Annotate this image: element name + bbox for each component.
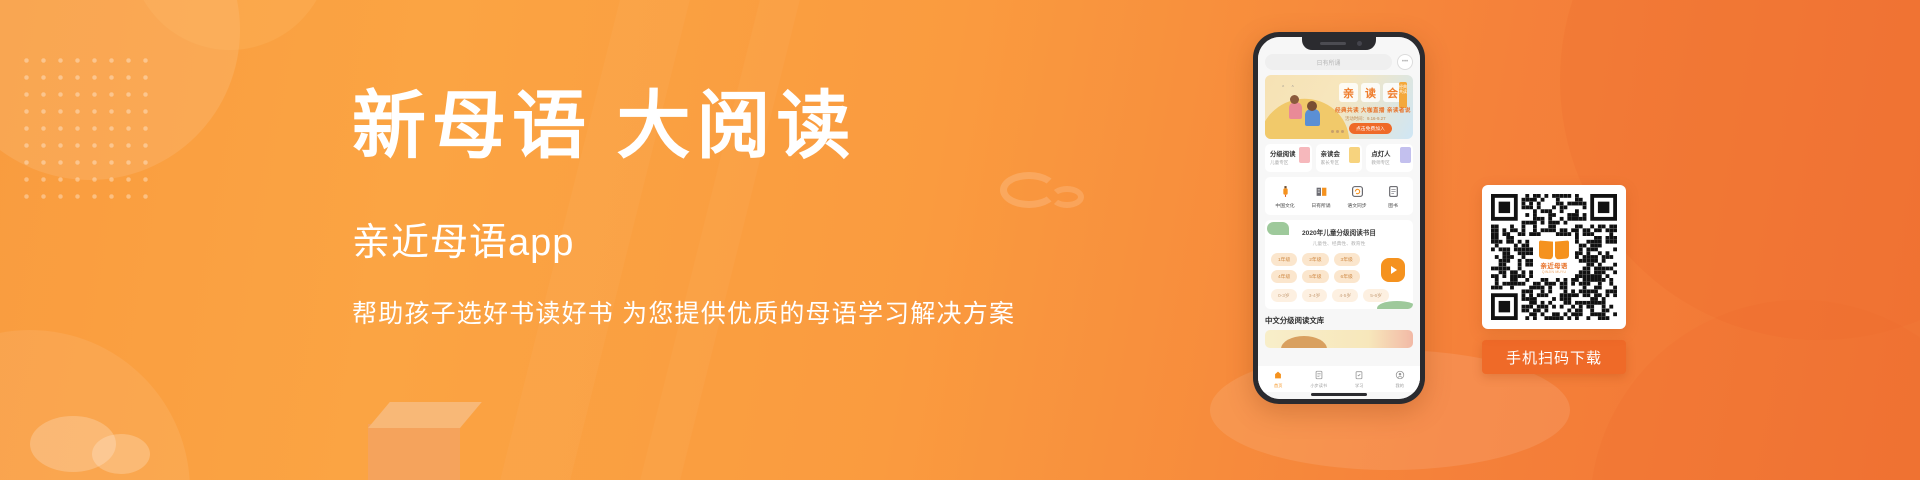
tab-profile[interactable]: 我的 <box>1380 370 1421 389</box>
decor-dot-grid <box>18 52 154 202</box>
carousel-subtitle: 经典共读 大咖直播 亲读者说 <box>1335 106 1411 114</box>
qr-code: 亲近母语 QINJIN MUYU <box>1491 194 1617 320</box>
booklist-age-chips: 0-3岁 3-4岁 4-5岁 5-6岁 <box>1271 289 1407 302</box>
sync-icon <box>1350 184 1364 198</box>
grade-chip[interactable]: 5年级 <box>1302 270 1328 283</box>
category-card-teacher[interactable]: 点灯人 教师专区 <box>1366 144 1413 172</box>
quick-link-row: 中国文化 日有所诵 语文同步 <box>1265 177 1413 215</box>
ellipsis-icon[interactable]: ••• <box>1397 54 1413 70</box>
phone-mockup: 日有所诵 ••• ⌃ ⌃ 亲 读 会 经典共读 经典共读 <box>1253 32 1425 404</box>
grade-chip[interactable]: 6年级 <box>1334 270 1360 283</box>
download-button[interactable]: 手机扫码下载 <box>1482 340 1626 374</box>
decor-circle-bottom-left <box>0 330 190 480</box>
app-name: 亲近母语app <box>352 211 1012 266</box>
app-home-screen: 日有所诵 ••• ⌃ ⌃ 亲 读 会 经典共读 经典共读 <box>1258 37 1420 399</box>
home-indicator <box>1311 393 1367 396</box>
banner-description: 帮助孩子选好书读好书 为您提供优质的母语学习解决方案 <box>352 294 1012 330</box>
bottom-tab-bar: 首页 小步读书 学习 <box>1258 366 1420 392</box>
age-chip[interactable]: 5-6岁 <box>1363 289 1389 302</box>
decor-arc <box>1281 336 1327 348</box>
user-icon <box>1394 370 1405 381</box>
decor-cloud-b <box>92 434 150 474</box>
decor-child-1 <box>1289 102 1302 119</box>
lantern-icon <box>1278 184 1292 198</box>
quick-link-label: 语文同步 <box>1347 202 1366 209</box>
bookmark-icon <box>1349 147 1360 163</box>
tab-label: 小步读书 <box>1310 383 1327 389</box>
brand-pinyin: QINJIN MUYU <box>1542 270 1566 274</box>
category-card-parent-club[interactable]: 亲读会 家长专区 <box>1316 144 1363 172</box>
brand-logo: 亲近母语 QINJIN MUYU <box>1534 237 1574 277</box>
carousel-title: 亲 读 会 <box>1339 83 1402 102</box>
tab-home[interactable]: 首页 <box>1258 370 1299 389</box>
grade-chip[interactable]: 2年级 <box>1302 253 1328 266</box>
carousel-vertical-tag: 经典共读 <box>1399 82 1407 108</box>
grade-chip[interactable]: 4年级 <box>1271 270 1297 283</box>
qr-code-card: 亲近母语 QINJIN MUYU <box>1482 185 1626 329</box>
booklist-chips: 1年级 2年级 3年级 4年级 5年级 6年级 <box>1271 253 1383 283</box>
library-card[interactable] <box>1265 330 1413 348</box>
decor-circle-top-left <box>0 0 240 180</box>
quick-link-daily-recite[interactable]: 日有所诵 <box>1303 184 1339 209</box>
reading-icon <box>1313 370 1324 381</box>
phone-camera-icon <box>1357 41 1362 46</box>
phone-screen: 日有所诵 ••• ⌃ ⌃ 亲 读 会 经典共读 经典共读 <box>1258 37 1420 399</box>
brand-name: 亲近母语 <box>1540 260 1567 270</box>
booklist-module: 2020年儿童分级阅读书目 儿童性、经典性、教育性 1年级 2年级 3年级 4年… <box>1265 220 1413 309</box>
bookmark-icon <box>1400 147 1411 163</box>
banner-copy: 新母语 大阅读 亲近母语app 帮助孩子选好书读好书 为您提供优质的母语学习解决… <box>352 86 1012 330</box>
carousel-title-char-2: 读 <box>1361 83 1380 102</box>
grade-chip[interactable]: 3年级 <box>1334 253 1360 266</box>
quick-link-label: 图书 <box>1388 202 1398 209</box>
quick-link-books[interactable]: 图书 <box>1375 184 1411 209</box>
page-title: 新母语 大阅读 <box>352 86 1012 169</box>
section-title-library: 中文分级阅读文库 <box>1265 315 1413 326</box>
category-card-graded-reading[interactable]: 分级阅读 儿童专区 <box>1265 144 1312 172</box>
decor-cloud-a <box>30 416 116 472</box>
download-block: 亲近母语 QINJIN MUYU 手机扫码下载 <box>1482 185 1626 374</box>
checklist-icon <box>1354 370 1365 381</box>
carousel-title-char-1: 亲 <box>1339 83 1358 102</box>
quick-link-label: 中国文化 <box>1275 202 1294 209</box>
play-video-icon[interactable] <box>1381 258 1405 282</box>
promo-banner: 新母语 大阅读 亲近母语app 帮助孩子选好书读好书 为您提供优质的母语学习解决… <box>0 0 1920 480</box>
promo-carousel-slide[interactable]: ⌃ ⌃ 亲 读 会 经典共读 经典共读 大咖直播 亲读者说 活动时间：9.16-… <box>1265 75 1413 139</box>
decor-circle-top-left-2 <box>130 0 330 50</box>
home-icon <box>1273 370 1284 381</box>
decor-child-2 <box>1305 109 1320 126</box>
phone-speaker <box>1320 42 1346 45</box>
decor-child-1-head <box>1290 95 1299 104</box>
book-icon <box>1386 184 1400 198</box>
search-input[interactable]: 日有所诵 <box>1265 54 1392 70</box>
tab-label: 学习 <box>1355 383 1363 389</box>
tab-label: 我的 <box>1396 383 1404 389</box>
carousel-schedule: 活动时间：9.16-9.27 <box>1345 116 1386 122</box>
tab-label: 首页 <box>1274 383 1282 389</box>
decor-cube <box>368 424 460 480</box>
carousel-cta-button[interactable]: 点击免费加入 <box>1349 123 1392 134</box>
booklist-title: 2020年儿童分级阅读书目 <box>1271 227 1407 237</box>
tab-study[interactable]: 学习 <box>1339 370 1380 389</box>
quick-link-textbook-sync[interactable]: 语文同步 <box>1339 184 1375 209</box>
phone-notch <box>1302 37 1376 50</box>
tab-reading[interactable]: 小步读书 <box>1299 370 1340 389</box>
decor-swirl-2 <box>1050 186 1084 208</box>
open-book-logo-icon <box>1539 241 1569 259</box>
decor-child-2-head <box>1307 101 1317 111</box>
quick-link-chinese-culture[interactable]: 中国文化 <box>1267 184 1303 209</box>
quick-link-label: 日有所诵 <box>1311 202 1330 209</box>
decor-birds-icon: ⌃ ⌃ <box>1281 85 1297 91</box>
app-search-row: 日有所诵 ••• <box>1265 54 1413 70</box>
booklist-subtitle: 儿童性、经典性、教育性 <box>1271 240 1407 247</box>
grade-chip[interactable]: 1年级 <box>1271 253 1297 266</box>
book-open-icon <box>1314 184 1328 198</box>
decor-circle-right-2 <box>1590 300 1920 480</box>
age-chip[interactable]: 4-5岁 <box>1332 289 1358 302</box>
age-chip[interactable]: 0-3岁 <box>1271 289 1297 302</box>
bookmark-icon <box>1299 147 1310 163</box>
carousel-dots[interactable] <box>1331 130 1344 133</box>
decor-leaf-2-icon <box>1377 301 1413 309</box>
age-chip[interactable]: 3-4岁 <box>1302 289 1328 302</box>
category-cards: 分级阅读 儿童专区 亲读会 家长专区 点灯人 教师专区 <box>1265 144 1413 172</box>
